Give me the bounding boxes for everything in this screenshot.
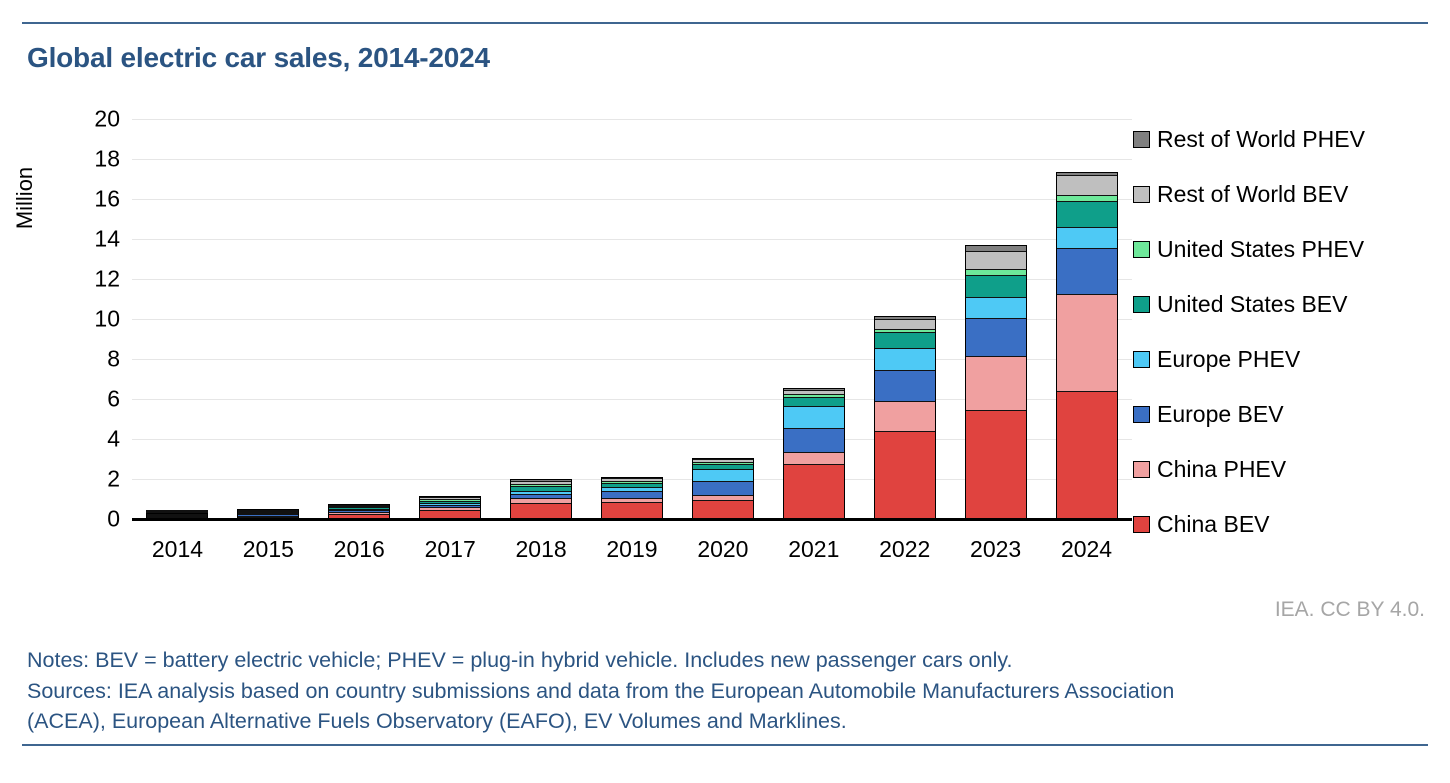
- x-tick-label: 2016: [314, 536, 405, 563]
- bar-stack: [874, 316, 936, 519]
- legend-item-label: Europe BEV: [1157, 403, 1284, 426]
- y-tick-label: 12: [62, 266, 120, 293]
- legend-swatch-icon: [1133, 351, 1150, 368]
- gridline: [132, 199, 1132, 200]
- chart-legend: Rest of World PHEVRest of World BEVUnite…: [1133, 112, 1443, 552]
- x-axis-line: [132, 518, 1132, 521]
- bar-segment: [965, 275, 1027, 297]
- bar-stack: [510, 479, 572, 519]
- bar-segment: [965, 356, 1027, 410]
- legend-item-label: Rest of World BEV: [1157, 183, 1348, 206]
- y-tick-label: 8: [62, 346, 120, 373]
- y-tick-label: 4: [62, 426, 120, 453]
- x-tick-label: 2019: [587, 536, 678, 563]
- bar-stack: [783, 388, 845, 519]
- bottom-divider: [22, 744, 1428, 746]
- notes-block: Notes: BEV = battery electric vehicle; P…: [27, 645, 1417, 737]
- x-tick-label: 2021: [768, 536, 859, 563]
- y-axis-title: Million: [12, 167, 38, 229]
- bar-segment: [874, 370, 936, 401]
- y-tick-label: 10: [62, 306, 120, 333]
- bar-stack: [601, 477, 663, 519]
- y-tick-label: 0: [62, 506, 120, 533]
- bar-segment: [783, 406, 845, 428]
- bar-segment: [1056, 175, 1118, 195]
- legend-swatch-icon: [1133, 241, 1150, 258]
- gridline: [132, 159, 1132, 160]
- bar-segment: [1056, 391, 1118, 519]
- bar-segment: [1056, 227, 1118, 248]
- bar-segment: [692, 500, 754, 519]
- x-tick-label: 2024: [1041, 536, 1132, 563]
- bar-segment: [1056, 201, 1118, 227]
- bar-segment: [965, 318, 1027, 356]
- legend-item[interactable]: United States BEV: [1133, 277, 1443, 332]
- bar-stack: [1056, 172, 1118, 519]
- x-tick-label: 2022: [859, 536, 950, 563]
- legend-item[interactable]: China BEV: [1133, 497, 1443, 552]
- legend-item[interactable]: Rest of World PHEV: [1133, 112, 1443, 167]
- notes-line-1: Notes: BEV = battery electric vehicle; P…: [27, 645, 1417, 676]
- legend-item-label: China BEV: [1157, 513, 1270, 536]
- notes-line-3: (ACEA), European Alternative Fuels Obser…: [27, 706, 1417, 737]
- bar-segment: [783, 452, 845, 464]
- gridline: [132, 119, 1132, 120]
- legend-swatch-icon: [1133, 131, 1150, 148]
- y-tick-label: 14: [62, 226, 120, 253]
- bar-segment: [601, 491, 663, 498]
- x-tick-label: 2020: [677, 536, 768, 563]
- bar-segment: [874, 332, 936, 348]
- bar-stack: [965, 245, 1027, 519]
- iea-credit: IEA. CC BY 4.0.: [1275, 598, 1425, 622]
- y-tick-label: 18: [62, 146, 120, 173]
- bar-segment: [601, 502, 663, 519]
- bar-segment: [874, 401, 936, 431]
- x-tick-label: 2023: [950, 536, 1041, 563]
- bar-segment: [874, 431, 936, 519]
- chart-page: Global electric car sales, 2014-2024 Mil…: [0, 0, 1450, 783]
- x-tick-label: 2014: [132, 536, 223, 563]
- gridline: [132, 239, 1132, 240]
- bar-segment: [783, 464, 845, 519]
- bar-segment: [1056, 294, 1118, 391]
- legend-item[interactable]: Rest of World BEV: [1133, 167, 1443, 222]
- bar-segment: [692, 481, 754, 496]
- legend-item-label: United States BEV: [1157, 293, 1348, 316]
- legend-item-label: Rest of World PHEV: [1157, 128, 1365, 151]
- bar-stack: [692, 458, 754, 519]
- legend-item-label: United States PHEV: [1157, 238, 1364, 261]
- y-tick-label: 16: [62, 186, 120, 213]
- bar-segment: [510, 503, 572, 519]
- notes-line-2: Sources: IEA analysis based on country s…: [27, 676, 1417, 707]
- legend-item-label: Europe PHEV: [1157, 348, 1300, 371]
- legend-item[interactable]: Europe PHEV: [1133, 332, 1443, 387]
- y-tick-label: 2: [62, 466, 120, 493]
- bar-stack: [328, 504, 390, 519]
- bar-segment: [965, 251, 1027, 269]
- bar-segment: [783, 397, 845, 406]
- bar-segment: [874, 348, 936, 370]
- bar-segment: [965, 297, 1027, 318]
- legend-item[interactable]: China PHEV: [1133, 442, 1443, 497]
- bar-segment: [1056, 248, 1118, 294]
- legend-item[interactable]: Europe BEV: [1133, 387, 1443, 442]
- legend-item[interactable]: United States PHEV: [1133, 222, 1443, 277]
- x-tick-label: 2017: [405, 536, 496, 563]
- x-tick-label: 2015: [223, 536, 314, 563]
- bar-segment: [874, 319, 936, 329]
- legend-swatch-icon: [1133, 406, 1150, 423]
- top-divider: [22, 22, 1428, 24]
- legend-swatch-icon: [1133, 516, 1150, 533]
- legend-swatch-icon: [1133, 461, 1150, 478]
- legend-item-label: China PHEV: [1157, 458, 1286, 481]
- bar-segment: [692, 469, 754, 481]
- plot-area: [132, 119, 1132, 519]
- legend-swatch-icon: [1133, 186, 1150, 203]
- bar-segment: [965, 410, 1027, 519]
- y-tick-label: 20: [62, 106, 120, 133]
- legend-swatch-icon: [1133, 296, 1150, 313]
- y-tick-label: 6: [62, 386, 120, 413]
- x-tick-label: 2018: [496, 536, 587, 563]
- bar-stack: [419, 496, 481, 519]
- page-title: Global electric car sales, 2014-2024: [27, 42, 490, 74]
- bar-segment: [783, 428, 845, 452]
